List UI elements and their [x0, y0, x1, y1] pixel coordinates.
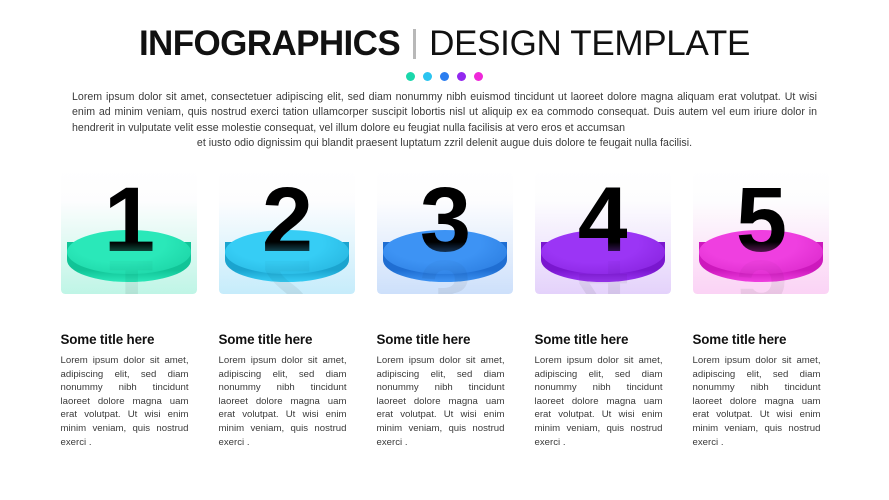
step-body-5: Lorem ipsum dolor sit amet, adipiscing e…	[693, 354, 821, 449]
step-cylinder-1	[67, 230, 191, 292]
color-dots-row	[0, 72, 889, 81]
dot-purple	[457, 72, 466, 81]
step-visual-2[interactable]: 22	[219, 168, 355, 294]
intro-paragraph: Lorem ipsum dolor sit amet, consectetuer…	[72, 90, 817, 152]
infographic-page: INFOGRAPHICS DESIGN TEMPLATE Lorem ipsum…	[0, 0, 889, 500]
step-visual-3[interactable]: 33	[377, 168, 513, 294]
step-cylinder-5	[699, 230, 823, 292]
columns-row: 11Some title hereLorem ipsum dolor sit a…	[0, 168, 889, 449]
step-cylinder-2	[225, 230, 349, 292]
step-title-4: Some title here	[535, 332, 663, 348]
column-1[interactable]: 11Some title hereLorem ipsum dolor sit a…	[61, 168, 197, 449]
step-body-3: Lorem ipsum dolor sit amet, adipiscing e…	[377, 354, 505, 449]
step-title-5: Some title here	[693, 332, 821, 348]
dot-cyan	[423, 72, 432, 81]
step-title-2: Some title here	[219, 332, 347, 348]
dot-blue	[440, 72, 449, 81]
dot-teal	[406, 72, 415, 81]
step-text-block-5: Some title hereLorem ipsum dolor sit ame…	[693, 332, 821, 449]
step-text-block-3: Some title hereLorem ipsum dolor sit ame…	[377, 332, 505, 449]
step-text-block-2: Some title hereLorem ipsum dolor sit ame…	[219, 332, 347, 449]
step-text-block-4: Some title hereLorem ipsum dolor sit ame…	[535, 332, 663, 449]
dot-magenta	[474, 72, 483, 81]
step-title-1: Some title here	[61, 332, 189, 348]
page-title: INFOGRAPHICS DESIGN TEMPLATE	[0, 26, 889, 61]
step-body-2: Lorem ipsum dolor sit amet, adipiscing e…	[219, 354, 347, 449]
intro-text-main: Lorem ipsum dolor sit amet, consectetuer…	[72, 90, 817, 136]
step-visual-5[interactable]: 55	[693, 168, 829, 294]
column-3[interactable]: 33Some title hereLorem ipsum dolor sit a…	[377, 168, 513, 449]
title-divider	[413, 29, 416, 59]
step-title-3: Some title here	[377, 332, 505, 348]
title-bold-part: INFOGRAPHICS	[139, 26, 400, 61]
step-cylinder-3	[383, 230, 507, 292]
step-visual-4[interactable]: 44	[535, 168, 671, 294]
header: INFOGRAPHICS DESIGN TEMPLATE	[0, 26, 889, 81]
cylinder-top-3	[383, 230, 507, 274]
title-light-part: DESIGN TEMPLATE	[429, 26, 750, 61]
cylinder-top-1	[67, 230, 191, 274]
intro-text-last-line: et iusto odio dignissim qui blandit prae…	[72, 136, 817, 151]
cylinder-top-2	[225, 230, 349, 274]
step-visual-1[interactable]: 11	[61, 168, 197, 294]
cylinder-top-4	[541, 230, 665, 274]
column-5[interactable]: 55Some title hereLorem ipsum dolor sit a…	[693, 168, 829, 449]
step-text-block-1: Some title hereLorem ipsum dolor sit ame…	[61, 332, 189, 449]
step-body-1: Lorem ipsum dolor sit amet, adipiscing e…	[61, 354, 189, 449]
step-cylinder-4	[541, 230, 665, 292]
column-2[interactable]: 22Some title hereLorem ipsum dolor sit a…	[219, 168, 355, 449]
step-body-4: Lorem ipsum dolor sit amet, adipiscing e…	[535, 354, 663, 449]
column-4[interactable]: 44Some title hereLorem ipsum dolor sit a…	[535, 168, 671, 449]
cylinder-top-5	[699, 230, 823, 274]
